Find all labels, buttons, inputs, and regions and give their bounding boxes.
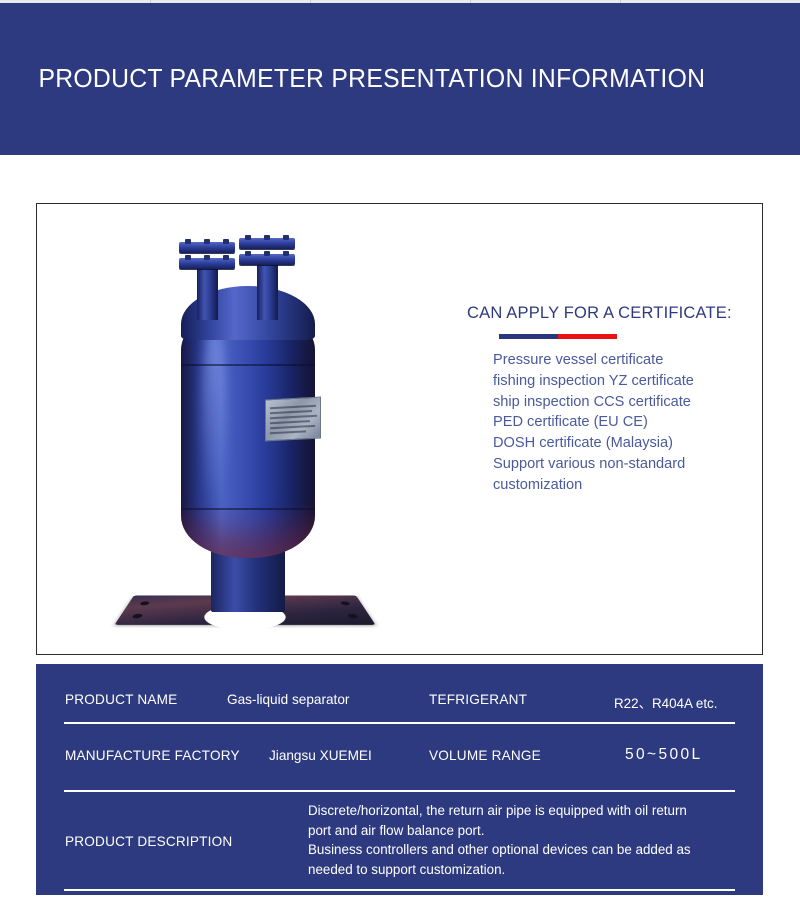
spec-value-volume-range: 50~500L bbox=[625, 746, 703, 764]
description-line: Discrete/horizontal, the return air pipe… bbox=[308, 801, 728, 821]
row-divider bbox=[64, 889, 735, 891]
page-header: PRODUCT PARAMETER PRESENTATION INFORMATI… bbox=[0, 3, 800, 155]
vessel-nameplate bbox=[265, 397, 321, 442]
accent-segment-blue bbox=[499, 334, 558, 339]
vessel-weld-seam bbox=[181, 364, 315, 366]
product-photo bbox=[37, 204, 457, 654]
spec-value-product-name: Gas-liquid separator bbox=[227, 692, 349, 707]
spec-label-product-name: PRODUCT NAME bbox=[65, 692, 177, 707]
spec-label-volume-range: VOLUME RANGE bbox=[429, 748, 541, 763]
description-line: port and air flow balance port. bbox=[308, 821, 728, 841]
base-bolt-hole bbox=[347, 614, 359, 619]
list-item: ship inspection CCS certificate bbox=[493, 392, 757, 413]
spec-label-manufacture-factory: MANUFACTURE FACTORY bbox=[65, 748, 240, 763]
spec-value-product-description: Discrete/horizontal, the return air pipe… bbox=[308, 801, 728, 879]
list-item: DOSH certificate (Malaysia) bbox=[493, 433, 757, 454]
pipe-flange bbox=[179, 242, 235, 253]
list-item: PED certificate (EU CE) bbox=[493, 412, 757, 433]
spec-value-refrigerant: R22、R404A etc. bbox=[614, 692, 717, 712]
base-bolt-hole bbox=[340, 601, 351, 605]
spec-value-manufacture-factory: Jiangsu XUEMEI bbox=[269, 748, 372, 763]
description-line: Business controllers and other optional … bbox=[308, 840, 728, 860]
accent-segment-red bbox=[558, 334, 617, 339]
inlet-pipe-neck bbox=[197, 264, 218, 320]
product-info-page: PRODUCT PARAMETER PRESENTATION INFORMATI… bbox=[0, 0, 800, 906]
table-row: PRODUCT DESCRIPTION Discrete/horizontal,… bbox=[36, 792, 763, 891]
content-card: CAN APPLY FOR A CERTIFICATE: Pressure ve… bbox=[36, 203, 763, 655]
outlet-pipe-neck bbox=[257, 264, 278, 320]
pipe-flange bbox=[239, 238, 295, 249]
table-row: PRODUCT NAME Gas-liquid separator TEFRIG… bbox=[36, 664, 763, 724]
list-item: fishing inspection YZ certificate bbox=[493, 371, 757, 392]
list-item: customization bbox=[493, 475, 757, 496]
table-row: MANUFACTURE FACTORY Jiangsu XUEMEI VOLUM… bbox=[36, 724, 763, 792]
spec-label-product-description: PRODUCT DESCRIPTION bbox=[65, 834, 232, 849]
separator-vessel-illustration bbox=[123, 224, 373, 644]
accent-underline bbox=[499, 334, 617, 339]
spec-label-refrigerant: TEFRIGERANT bbox=[429, 692, 527, 707]
pipe-flange bbox=[179, 258, 235, 269]
base-bolt-hole bbox=[139, 601, 150, 605]
specification-table: PRODUCT NAME Gas-liquid separator TEFRIG… bbox=[36, 664, 763, 895]
base-bolt-hole bbox=[131, 614, 143, 619]
page-title: PRODUCT PARAMETER PRESENTATION INFORMATI… bbox=[12, 65, 788, 94]
vessel-bottom-shading bbox=[181, 504, 315, 558]
list-item: Support various non-standard bbox=[493, 454, 757, 475]
vessel-highlight bbox=[202, 323, 226, 508]
certificate-heading: CAN APPLY FOR A CERTIFICATE: bbox=[467, 304, 757, 323]
certificate-panel: CAN APPLY FOR A CERTIFICATE: Pressure ve… bbox=[467, 304, 757, 496]
certificate-list: Pressure vessel certificate fishing insp… bbox=[493, 350, 757, 496]
support-skirt bbox=[211, 550, 285, 612]
list-item: Pressure vessel certificate bbox=[493, 350, 757, 371]
pipe-flange bbox=[239, 254, 295, 265]
description-line: needed to support customization. bbox=[308, 860, 728, 880]
